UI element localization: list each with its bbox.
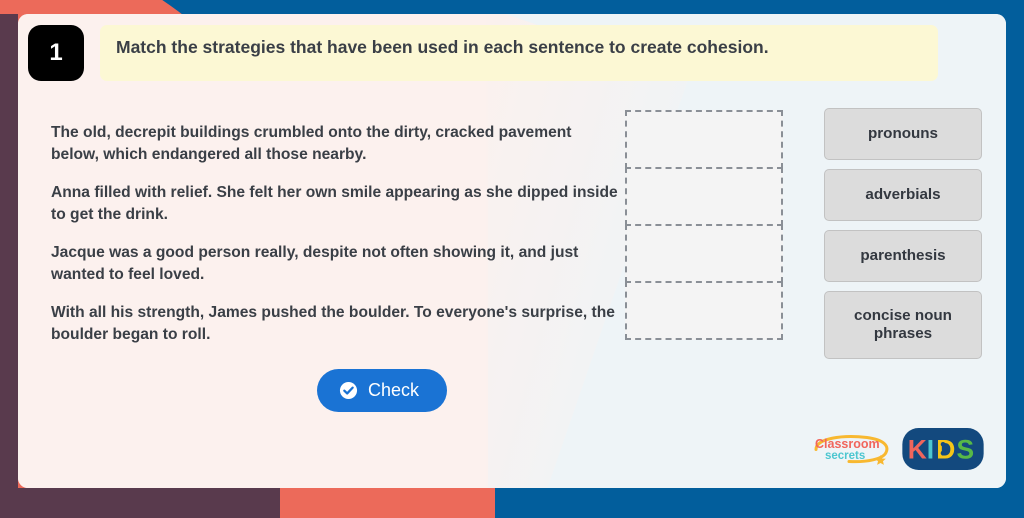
activity-card: 1 Match the strategies that have been us… — [18, 14, 1006, 488]
option-pronouns[interactable]: pronouns — [824, 108, 982, 160]
dropzone-1[interactable] — [625, 110, 783, 169]
option-concise-noun-phrases[interactable]: concise noun phrases — [824, 291, 982, 359]
activity-screen: 1 Match the strategies that have been us… — [0, 0, 1024, 518]
kids-logo: K I D S — [902, 428, 984, 470]
classroom-secrets-logo: Classroom secrets — [812, 432, 892, 466]
svg-text:I: I — [927, 434, 934, 464]
sentence-item: The old, decrepit buildings crumbled ont… — [51, 122, 621, 165]
question-number-badge: 1 — [28, 25, 84, 81]
svg-text:S: S — [957, 434, 975, 464]
sentence-item: Jacque was a good person really, despite… — [51, 242, 621, 285]
band-segment-blue — [495, 488, 1024, 518]
svg-text:secrets: secrets — [825, 450, 865, 462]
check-button-row: Check — [18, 369, 1006, 412]
question-header: 1 Match the strategies that have been us… — [28, 25, 938, 81]
dropzone-list — [625, 110, 783, 340]
footer-logos: Classroom secrets K I D S — [812, 428, 984, 470]
left-edge-stripe — [0, 14, 18, 518]
check-circle-icon — [339, 381, 358, 400]
bottom-color-band — [0, 488, 1024, 518]
sentence-item: Anna filled with relief. She felt her ow… — [51, 182, 621, 225]
svg-text:K: K — [908, 434, 927, 464]
sentence-item: With all his strength, James pushed the … — [51, 302, 621, 345]
dropzone-2[interactable] — [625, 167, 783, 226]
option-adverbials[interactable]: adverbials — [824, 169, 982, 221]
dropzone-3[interactable] — [625, 224, 783, 283]
dropzone-4[interactable] — [625, 281, 783, 340]
check-button-label: Check — [368, 380, 419, 401]
svg-text:D: D — [936, 434, 955, 464]
option-list: pronouns adverbials parenthesis concise … — [824, 108, 982, 359]
sentence-list: The old, decrepit buildings crumbled ont… — [51, 122, 621, 345]
option-parenthesis[interactable]: parenthesis — [824, 230, 982, 282]
svg-text:Classroom: Classroom — [815, 437, 880, 451]
check-button[interactable]: Check — [317, 369, 447, 412]
band-segment-purple — [0, 488, 280, 518]
band-segment-coral — [280, 488, 495, 518]
question-prompt: Match the strategies that have been used… — [100, 25, 938, 81]
